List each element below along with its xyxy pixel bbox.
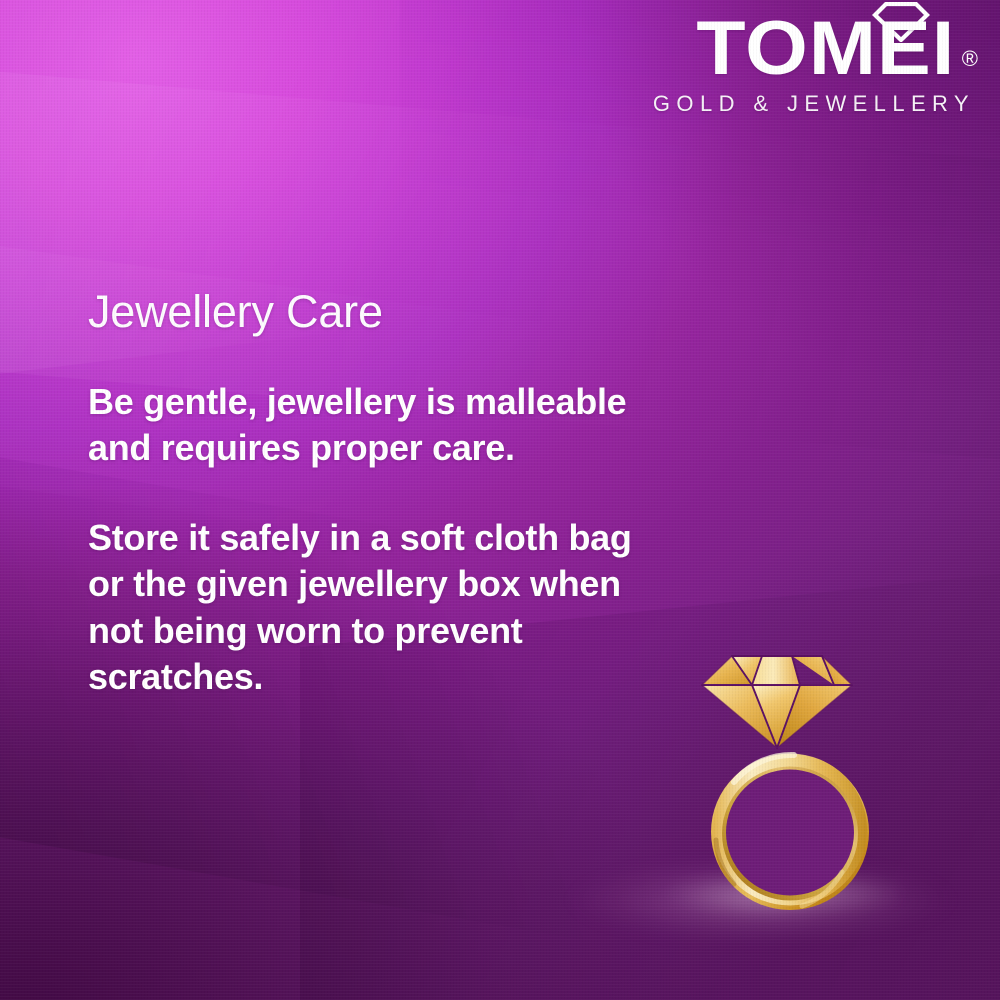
body-paragraph-1: Be gentle, jewellery is malleable and re… — [88, 379, 668, 471]
logo-wordmark-row: TOMEI ® — [653, 14, 978, 84]
gold-ring-band-icon — [711, 754, 869, 911]
page-title: Jewellery Care — [88, 288, 668, 335]
poster-canvas: TOMEI ® GOLD & JEWELLERY Jewellery Care … — [0, 0, 1000, 1000]
copy-block: Jewellery Care Be gentle, jewellery is m… — [88, 288, 668, 700]
diamond-ring-illustration — [690, 630, 890, 920]
body-paragraph-2: Store it safely in a soft cloth bag or t… — [88, 515, 668, 699]
brand-logo: TOMEI ® GOLD & JEWELLERY — [653, 14, 978, 115]
brand-wordmark: TOMEI — [696, 14, 955, 84]
brand-tagline: GOLD & JEWELLERY — [653, 93, 978, 115]
registered-trademark-icon: ® — [962, 48, 978, 70]
gem-diamond-icon — [702, 656, 852, 748]
